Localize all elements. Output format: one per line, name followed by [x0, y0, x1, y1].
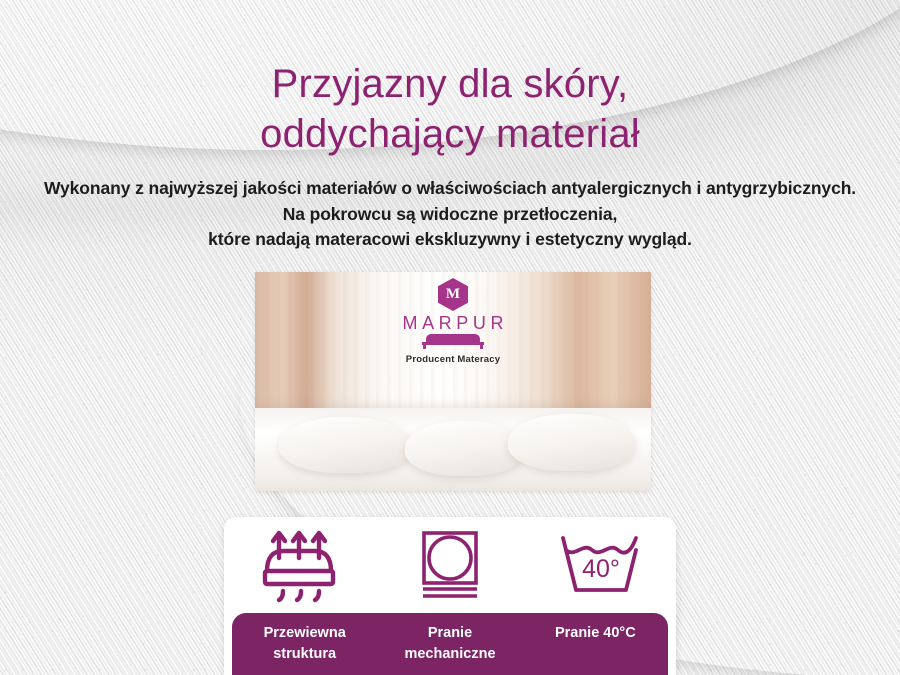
description-line-2: Na pokrowcu są widoczne przetłoczenia,: [0, 202, 900, 228]
family-photo-card: M MARPUR Producent Materacy: [255, 272, 651, 491]
feature-icon-cell-machine-wash: [375, 517, 526, 613]
logo-wordmark: MARPUR: [378, 313, 528, 333]
marpur-logo: M MARPUR Producent Materacy: [378, 278, 528, 365]
logo-tagline: Producent Materacy: [378, 354, 528, 365]
promo-page: Przyjazny dla skóry, oddychający materia…: [0, 0, 900, 675]
feature-label-breathable: Przewiewna struktura: [232, 613, 377, 675]
photo-pillow: [405, 421, 524, 476]
logo-bed-icon: [422, 334, 484, 349]
logo-monogram: M: [446, 287, 460, 302]
page-title: Przyjazny dla skóry, oddychający materia…: [0, 59, 900, 159]
photo-pillow: [279, 417, 414, 474]
description-line-3: które nadają materacowi ekskluzywny i es…: [0, 227, 900, 253]
description-text: Wykonany z najwyższej jakości materiałów…: [0, 176, 900, 253]
feature-label-breathable-line-2: struktura: [264, 644, 346, 665]
wash-temperature-label: 40°: [582, 555, 620, 583]
photo-pillow: [508, 414, 635, 471]
feature-label-machine-wash-line-2: mechaniczne: [404, 644, 495, 665]
feature-label-wash-40-line-1: Pranie 40°C: [555, 623, 636, 644]
feature-icon-cell-breathable: [224, 517, 375, 613]
feature-label-machine-wash-line-1: Pranie: [404, 623, 495, 644]
feature-icon-cell-wash-40: 40°: [525, 517, 676, 613]
logo-hexagon-icon: M: [438, 278, 468, 311]
feature-label-wash-40: Pranie 40°C: [523, 613, 668, 675]
feature-label-machine-wash: Pranie mechaniczne: [377, 613, 522, 675]
description-line-1: Wykonany z najwyższej jakości materiałów…: [0, 176, 900, 202]
feature-label-breathable-line-1: Przewiewna: [264, 623, 346, 644]
page-title-line-1: Przyjazny dla skóry,: [0, 59, 900, 109]
features-label-band: Przewiewna struktura Pranie mechaniczne …: [232, 613, 668, 675]
wash-40-degrees-icon: 40°: [555, 532, 647, 598]
page-title-line-2: oddychający materiał: [0, 109, 900, 159]
features-card: 40° Przewiewna struktura Pranie mechanic…: [224, 517, 676, 675]
breathable-mattress-icon: [253, 527, 345, 603]
features-icon-row: 40°: [224, 517, 676, 613]
machine-wash-icon: [414, 527, 486, 603]
